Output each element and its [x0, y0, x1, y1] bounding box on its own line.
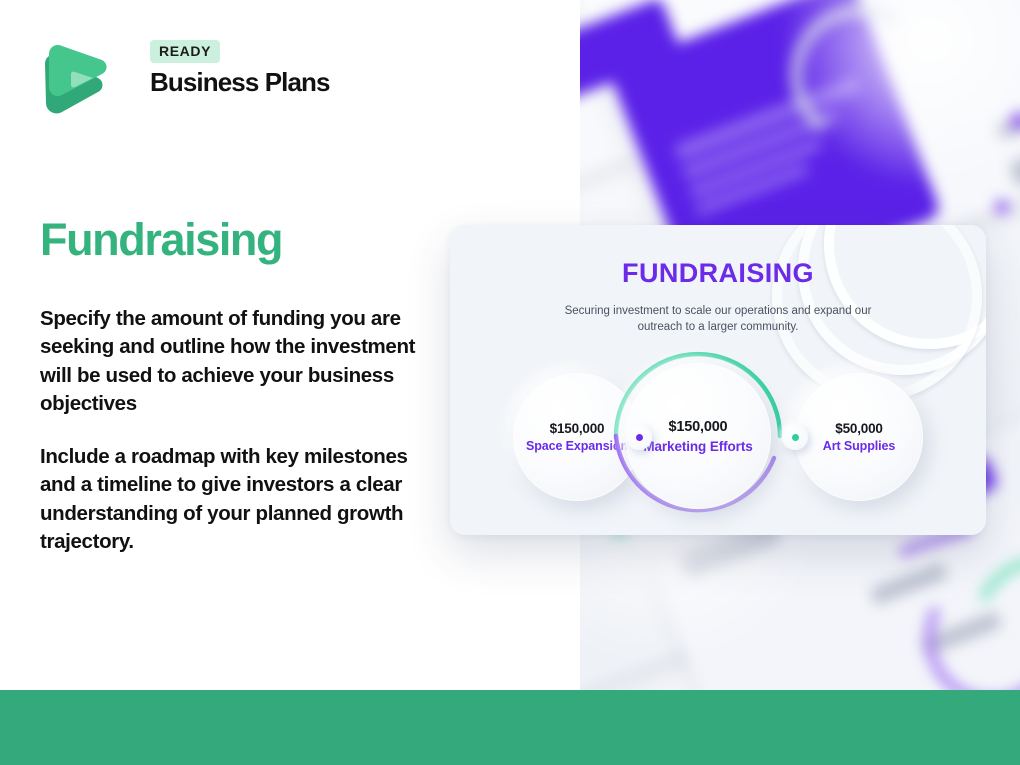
page-title: Fundraising: [40, 216, 282, 263]
funding-label: Art Supplies: [823, 439, 895, 453]
card-title: FUNDRAISING: [450, 258, 986, 289]
brand-name: Business Plans: [150, 67, 330, 98]
paragraph-1: Specify the amount of funding you are se…: [40, 305, 432, 418]
background-dot: [995, 200, 1009, 214]
play-triangle-logo-icon: [40, 38, 110, 118]
funding-breakdown: $150,000 Space Expansion: [450, 355, 986, 525]
paragraph-2: Include a roadmap with key milestones an…: [40, 443, 432, 556]
funding-amount: $150,000: [550, 421, 605, 438]
fundraising-card[interactable]: FUNDRAISING Securing investment to scale…: [450, 225, 986, 535]
body-copy: Specify the amount of funding you are se…: [40, 305, 432, 556]
funding-label: Marketing Efforts: [643, 439, 752, 454]
funding-circle-art-supplies[interactable]: $50,000 Art Supplies: [795, 373, 923, 501]
connector-dot-right: [782, 424, 808, 450]
funding-amount: $50,000: [835, 421, 882, 438]
funding-amount: $150,000: [669, 418, 728, 436]
connector-dot-left: [626, 424, 652, 450]
slide-root: READY Business Plans Fundraising Specify…: [0, 0, 1020, 765]
ready-badge: READY: [150, 40, 220, 63]
footer-bar: [0, 690, 1020, 765]
brand-logo[interactable]: READY Business Plans: [40, 38, 370, 120]
card-subtitle: Securing investment to scale our operati…: [553, 303, 883, 336]
card-arc-decoration: [814, 225, 986, 359]
brand-wordmark: READY Business Plans: [150, 40, 330, 98]
